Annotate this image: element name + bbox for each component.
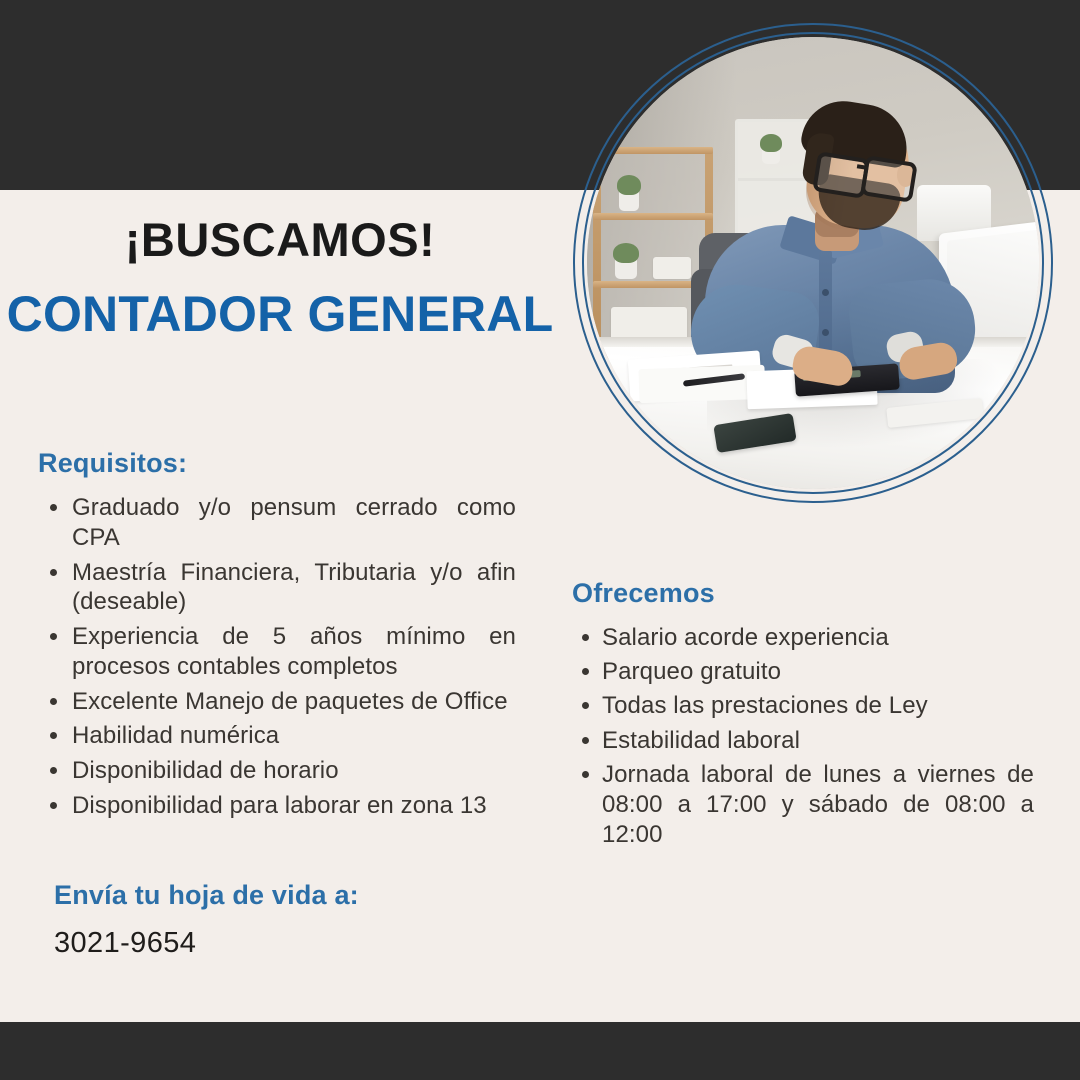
accountant-photo-circle bbox=[573, 23, 1053, 503]
job-posting-poster: ¡BUSCAMOS! CONTADOR GENERAL Requisitos: … bbox=[0, 0, 1080, 1080]
list-item: Estabilidad laboral bbox=[602, 726, 1034, 756]
list-item: Parqueo gratuito bbox=[602, 657, 1034, 687]
list-item: Maestría Financiera, Tributaria y/o afin… bbox=[72, 558, 516, 618]
list-item: Disponibilidad de horario bbox=[72, 756, 516, 786]
offer-section: Ofrecemos Salario acorde experiencia Par… bbox=[572, 578, 1034, 855]
requirements-list: Graduado y/o pensum cerrado como CPA Mae… bbox=[38, 493, 516, 821]
accountant-at-desk-photo bbox=[587, 37, 1039, 489]
requirements-heading: Requisitos: bbox=[38, 448, 516, 479]
list-item: Todas las prestaciones de Ley bbox=[602, 691, 1034, 721]
position-title: CONTADOR GENERAL bbox=[0, 289, 560, 339]
list-item: Experiencia de 5 años mínimo en procesos… bbox=[72, 622, 516, 682]
offer-list: Salario acorde experiencia Parqueo gratu… bbox=[572, 623, 1034, 851]
offer-heading: Ofrecemos bbox=[572, 578, 1034, 609]
buscamos-heading: ¡BUSCAMOS! bbox=[0, 216, 560, 263]
contact-label: Envía tu hoja de vida a: bbox=[54, 880, 359, 911]
headline-block: ¡BUSCAMOS! CONTADOR GENERAL bbox=[0, 216, 560, 339]
list-item: Graduado y/o pensum cerrado como CPA bbox=[72, 493, 516, 553]
contact-section: Envía tu hoja de vida a: 3021-9654 bbox=[54, 880, 359, 960]
list-item: Jornada laboral de lunes a viernes de 08… bbox=[602, 760, 1034, 851]
list-item: Excelente Manejo de paquetes de Office bbox=[72, 687, 516, 717]
requirements-section: Requisitos: Graduado y/o pensum cerrado … bbox=[38, 448, 516, 826]
list-item: Disponibilidad para laborar en zona 13 bbox=[72, 791, 516, 821]
bottom-dark-band bbox=[0, 1022, 1080, 1080]
list-item: Habilidad numérica bbox=[72, 721, 516, 751]
list-item: Salario acorde experiencia bbox=[602, 623, 1034, 653]
contact-phone[interactable]: 3021-9654 bbox=[54, 927, 359, 960]
eyeglasses-right-lens bbox=[860, 155, 918, 203]
